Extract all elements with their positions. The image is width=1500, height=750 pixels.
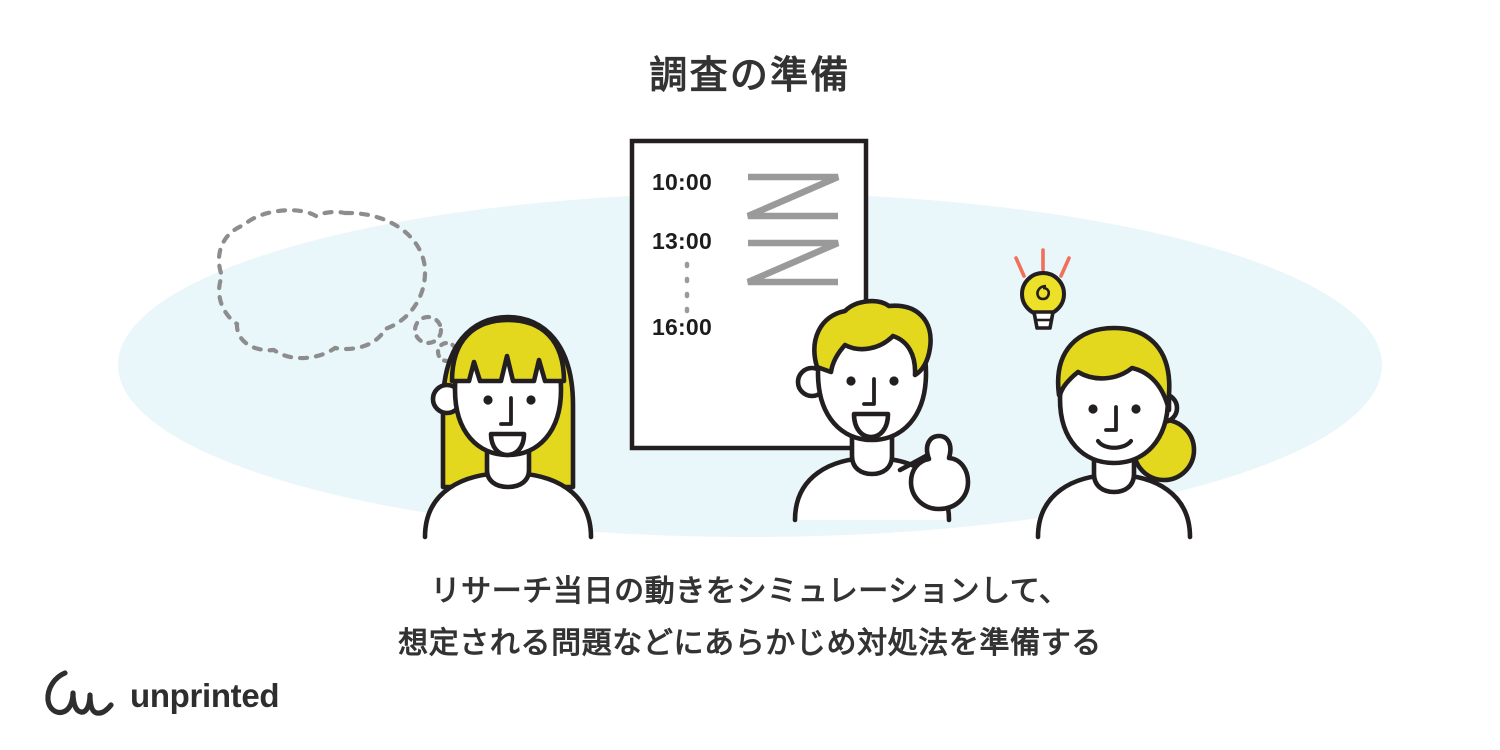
caption-block: リサーチ当日の動きをシミュレーションして、 想定される問題などにあらかじめ対処法… <box>0 566 1500 669</box>
illustration-canvas: 10:00 13:00 16:00 <box>0 0 1500 750</box>
man-center-mouth <box>854 414 888 437</box>
man-center-eye-left <box>846 376 855 385</box>
whiteboard-time-1: 10:00 <box>652 169 712 195</box>
brand-logo[interactable]: unprinted <box>44 669 279 721</box>
whiteboard-time-2: 13:00 <box>652 228 712 254</box>
logo-wordmark: unprinted <box>130 679 279 712</box>
man-center-eye-right <box>889 376 898 385</box>
lightbulb-glass <box>1022 273 1064 315</box>
caption-line-2: 想定される問題などにあらかじめ対処法を準備する <box>0 618 1500 670</box>
woman-right-eye-right <box>1131 404 1140 413</box>
woman-left-eye-left <box>483 395 492 404</box>
unprinted-script-mark-icon <box>44 669 116 721</box>
whiteboard-time-3: 16:00 <box>652 314 712 340</box>
woman-left-mouth <box>491 434 524 455</box>
page-title: 調査の準備 <box>0 54 1500 100</box>
woman-right-eye-left <box>1088 404 1097 413</box>
caption-line-1: リサーチ当日の動きをシミュレーションして、 <box>0 566 1500 618</box>
woman-left-eye-right <box>526 395 535 404</box>
